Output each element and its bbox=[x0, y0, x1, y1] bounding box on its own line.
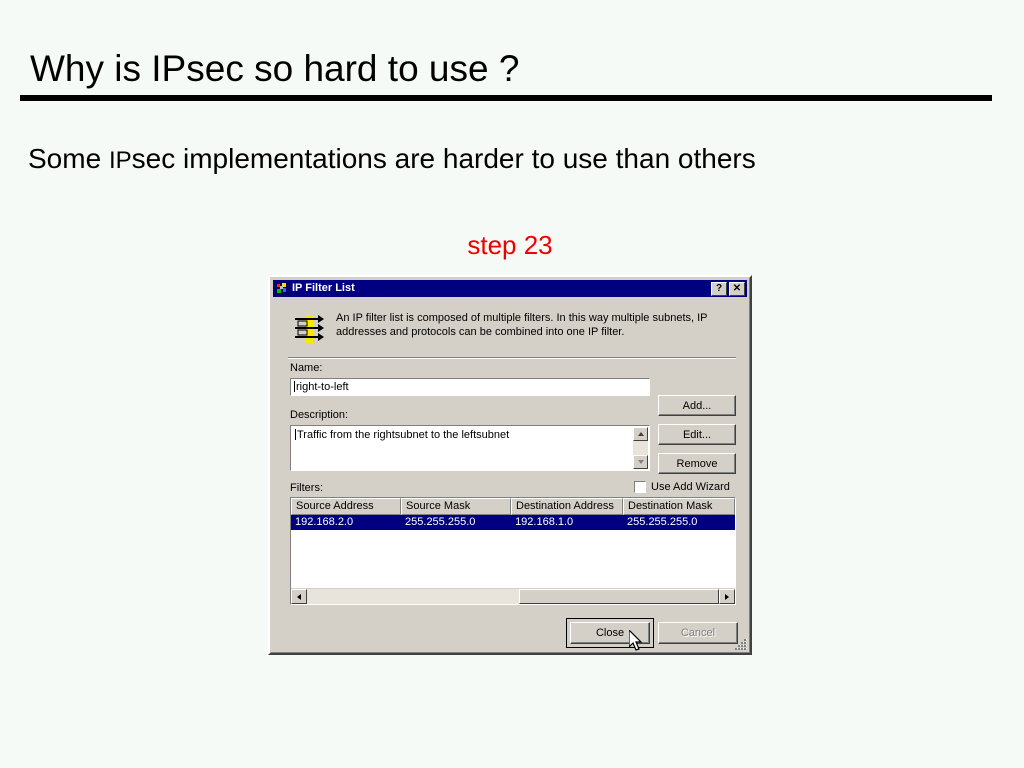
use-add-wizard-label[interactable]: Use Add Wizard bbox=[651, 481, 730, 493]
cell-destination-address: 192.168.1.0 bbox=[511, 515, 623, 530]
column-header-destination-mask[interactable]: Destination Mask bbox=[623, 498, 735, 515]
dialog-description: An IP filter list is composed of multipl… bbox=[336, 311, 726, 339]
subtitle-prefix: Some bbox=[28, 143, 109, 174]
column-header-source-mask[interactable]: Source Mask bbox=[401, 498, 511, 515]
scroll-left-button[interactable] bbox=[291, 589, 307, 604]
page-title: Why is IPsec so hard to use ? bbox=[30, 48, 519, 90]
cancel-button-label: Cancel bbox=[681, 627, 715, 639]
dialog-title: IP Filter List bbox=[292, 280, 711, 297]
ip-filter-list-icon bbox=[275, 282, 289, 295]
cell-destination-mask: 255.255.255.0 bbox=[623, 515, 735, 530]
remove-button[interactable]: Remove bbox=[658, 453, 736, 474]
description-textarea[interactable]: Traffic from the rightsubnet to the left… bbox=[290, 425, 650, 471]
dialog-titlebar[interactable]: IP Filter List ? ✕ bbox=[273, 280, 747, 297]
use-add-wizard-checkbox[interactable] bbox=[634, 481, 646, 493]
add-button[interactable]: Add... bbox=[658, 395, 736, 416]
description-label: Description: bbox=[290, 409, 348, 421]
cell-source-address: 192.168.2.0 bbox=[291, 515, 401, 530]
chevron-down-icon bbox=[638, 460, 644, 464]
filters-header-row: Source Address Source Mask Destination A… bbox=[291, 498, 735, 515]
help-icon[interactable]: ? bbox=[711, 282, 727, 296]
resize-grip[interactable] bbox=[734, 637, 748, 651]
step-label-text: step 23 bbox=[467, 230, 552, 260]
filter-list-icon bbox=[292, 312, 326, 346]
cell-source-mask: 255.255.255.0 bbox=[401, 515, 511, 530]
text-caret bbox=[295, 429, 296, 440]
name-input-value: right-to-left bbox=[296, 381, 349, 393]
close-button-label: Close bbox=[596, 627, 624, 639]
header-separator bbox=[288, 357, 736, 359]
chevron-up-icon bbox=[638, 432, 644, 436]
subtitle-smallcap: IP bbox=[109, 147, 132, 174]
column-header-source-address[interactable]: Source Address bbox=[291, 498, 401, 515]
name-input[interactable]: right-to-left bbox=[290, 378, 650, 396]
add-button-label: Add... bbox=[683, 400, 712, 412]
chevron-left-icon bbox=[297, 594, 301, 600]
ip-filter-list-dialog: IP Filter List ? ✕ An IP filter list is … bbox=[268, 275, 752, 655]
close-icon[interactable]: ✕ bbox=[729, 282, 745, 296]
text-caret bbox=[294, 381, 295, 392]
filters-listview[interactable]: Source Address Source Mask Destination A… bbox=[290, 497, 736, 605]
mouse-cursor bbox=[629, 630, 645, 654]
description-vertical-scrollbar[interactable] bbox=[633, 427, 648, 469]
chevron-right-icon bbox=[725, 594, 729, 600]
subtitle-rest: sec implementations are harder to use th… bbox=[132, 143, 756, 174]
scroll-up-button[interactable] bbox=[633, 427, 648, 441]
description-value-wrap: Traffic from the rightsubnet to the left… bbox=[295, 429, 509, 441]
name-label: Name: bbox=[290, 362, 322, 374]
titlebar-buttons: ? ✕ bbox=[711, 282, 745, 296]
edit-button-label: Edit... bbox=[683, 429, 711, 441]
edit-button[interactable]: Edit... bbox=[658, 424, 736, 445]
step-label: step 23 bbox=[0, 230, 1024, 261]
cancel-button: Cancel bbox=[658, 622, 738, 644]
table-row[interactable]: 192.168.2.0 255.255.255.0 192.168.1.0 25… bbox=[291, 515, 735, 530]
scrollbar-track[interactable] bbox=[307, 589, 719, 604]
filters-horizontal-scrollbar[interactable] bbox=[291, 588, 735, 604]
remove-button-label: Remove bbox=[677, 458, 718, 470]
filters-label: Filters: bbox=[290, 482, 323, 494]
scrollbar-thumb[interactable] bbox=[519, 589, 719, 604]
column-header-destination-address[interactable]: Destination Address bbox=[511, 498, 623, 515]
scroll-down-button[interactable] bbox=[633, 455, 648, 469]
slide-subtitle: Some IPsec implementations are harder to… bbox=[28, 143, 756, 175]
scroll-right-button[interactable] bbox=[719, 589, 735, 604]
description-value: Traffic from the rightsubnet to the left… bbox=[297, 429, 509, 441]
title-divider bbox=[20, 95, 992, 101]
